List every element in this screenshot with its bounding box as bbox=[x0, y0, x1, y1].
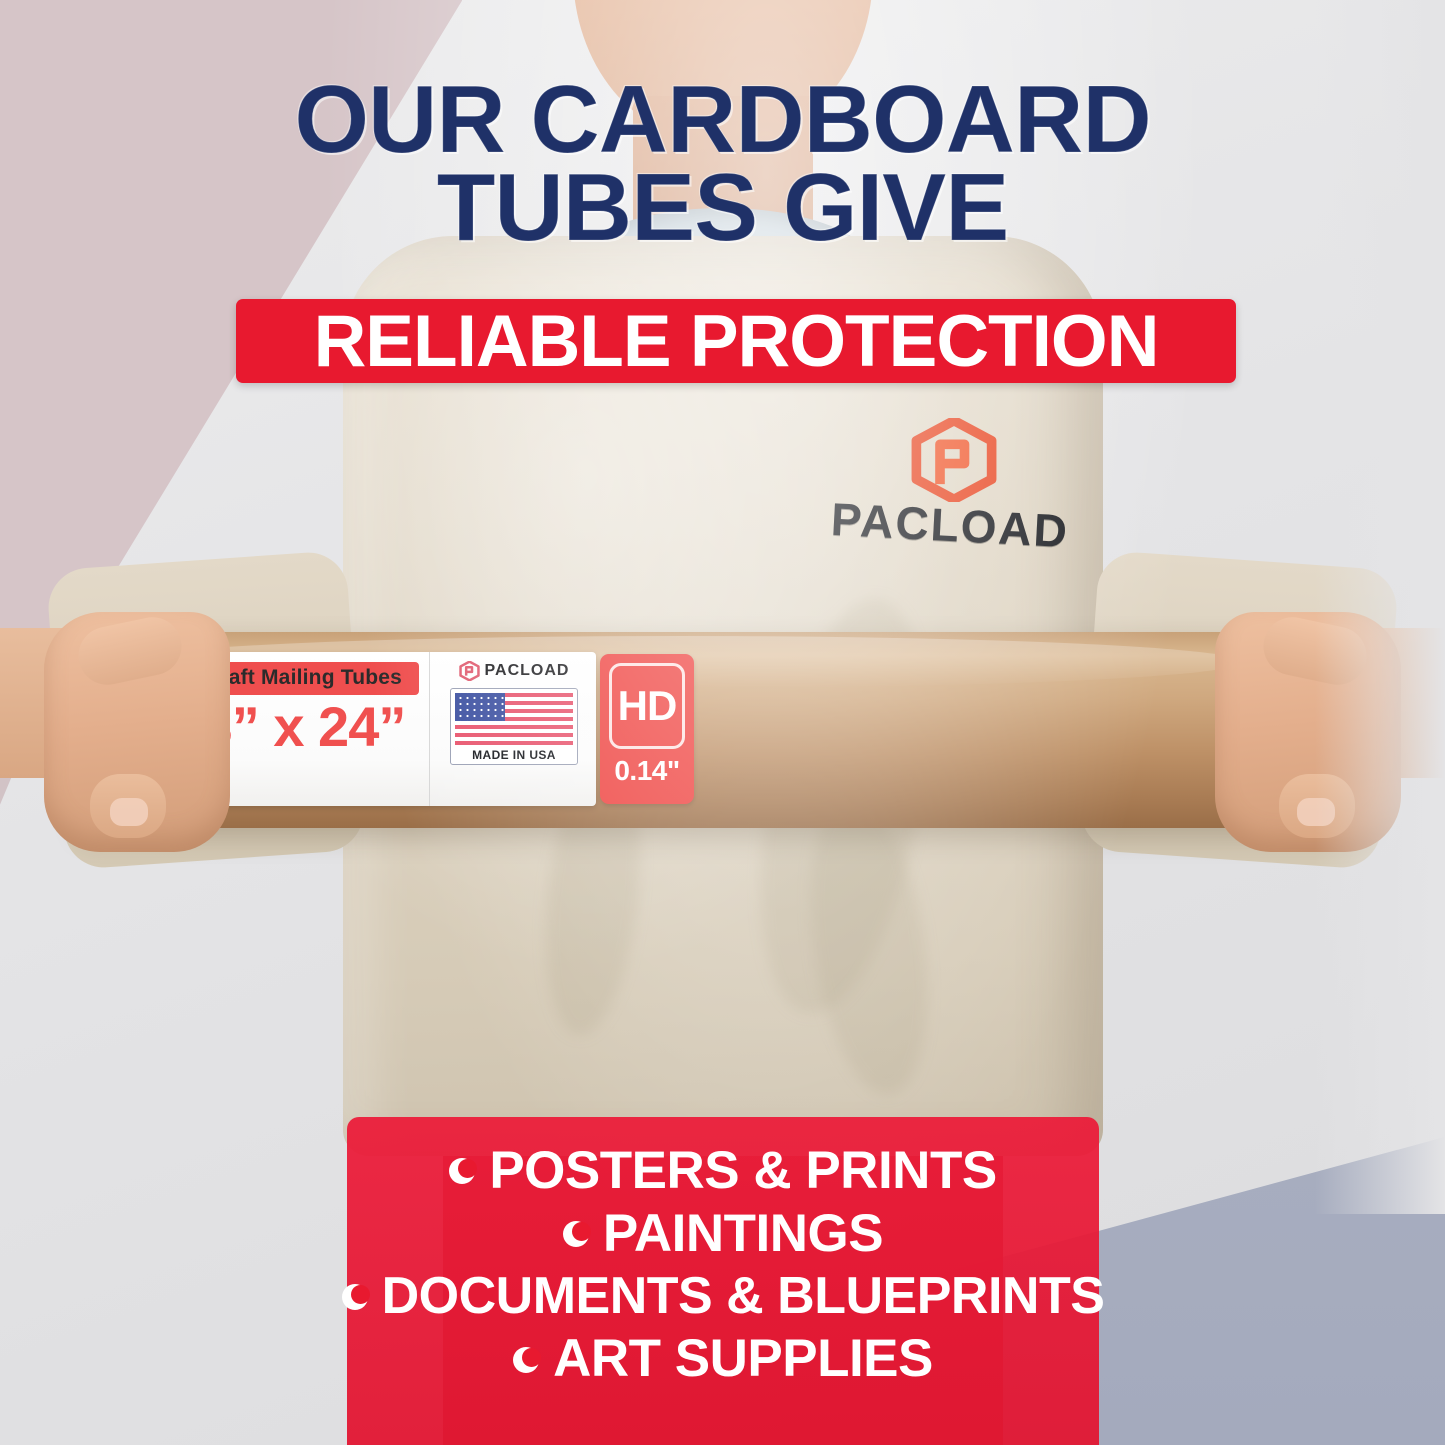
list-item: PAINTINGS bbox=[347, 1206, 1099, 1262]
list-item: ART SUPPLIES bbox=[347, 1331, 1099, 1387]
crescent-bullet-icon bbox=[563, 1221, 589, 1247]
banner-text: RELIABLE PROTECTION bbox=[314, 305, 1159, 378]
fingernail bbox=[110, 798, 148, 826]
use-label: PAINTINGS bbox=[603, 1206, 883, 1262]
crescent-bullet-icon bbox=[342, 1284, 368, 1310]
crescent-bullet-icon bbox=[449, 1158, 475, 1184]
crescent-bullet-icon bbox=[513, 1347, 539, 1373]
reliable-protection-banner: RELIABLE PROTECTION bbox=[236, 299, 1236, 383]
uses-panel: POSTERS & PRINTS PAINTINGS DOCUMENTS & B… bbox=[347, 1117, 1099, 1445]
use-label: POSTERS & PRINTS bbox=[489, 1143, 996, 1199]
headline: OUR CARDBOARD TUBES GIVE bbox=[0, 76, 1445, 253]
headline-line-2: TUBES GIVE bbox=[0, 164, 1445, 252]
list-item: DOCUMENTS & BLUEPRINTS bbox=[347, 1269, 1099, 1324]
hand-left bbox=[44, 612, 230, 852]
use-label: ART SUPPLIES bbox=[553, 1331, 933, 1387]
use-label: DOCUMENTS & BLUEPRINTS bbox=[382, 1269, 1105, 1324]
list-item: POSTERS & PRINTS bbox=[347, 1143, 1099, 1199]
product-marketing-image: PACLOAD Kraft Mailing Tubes 3” x 24” bbox=[0, 0, 1445, 1445]
